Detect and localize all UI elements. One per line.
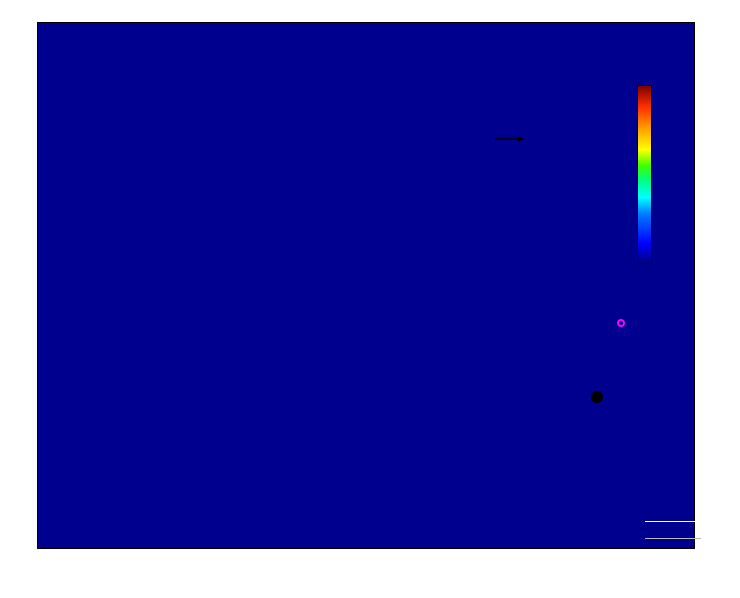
forecast-info-block (483, 79, 502, 231)
depth-1000m-legend-line (645, 538, 701, 539)
depth-200m-legend-line (645, 521, 701, 522)
figure-canvas (0, 0, 740, 592)
velocity-scale-arrow-icon (494, 134, 530, 144)
dongara-town-marker[interactable] (591, 391, 603, 403)
depth-contour-legend (651, 496, 670, 598)
argo-float-marker[interactable] (617, 319, 625, 327)
map-plot-area[interactable] (37, 22, 695, 549)
colorbar-gradient (637, 85, 652, 264)
surface-current-vectors (37, 22, 695, 549)
